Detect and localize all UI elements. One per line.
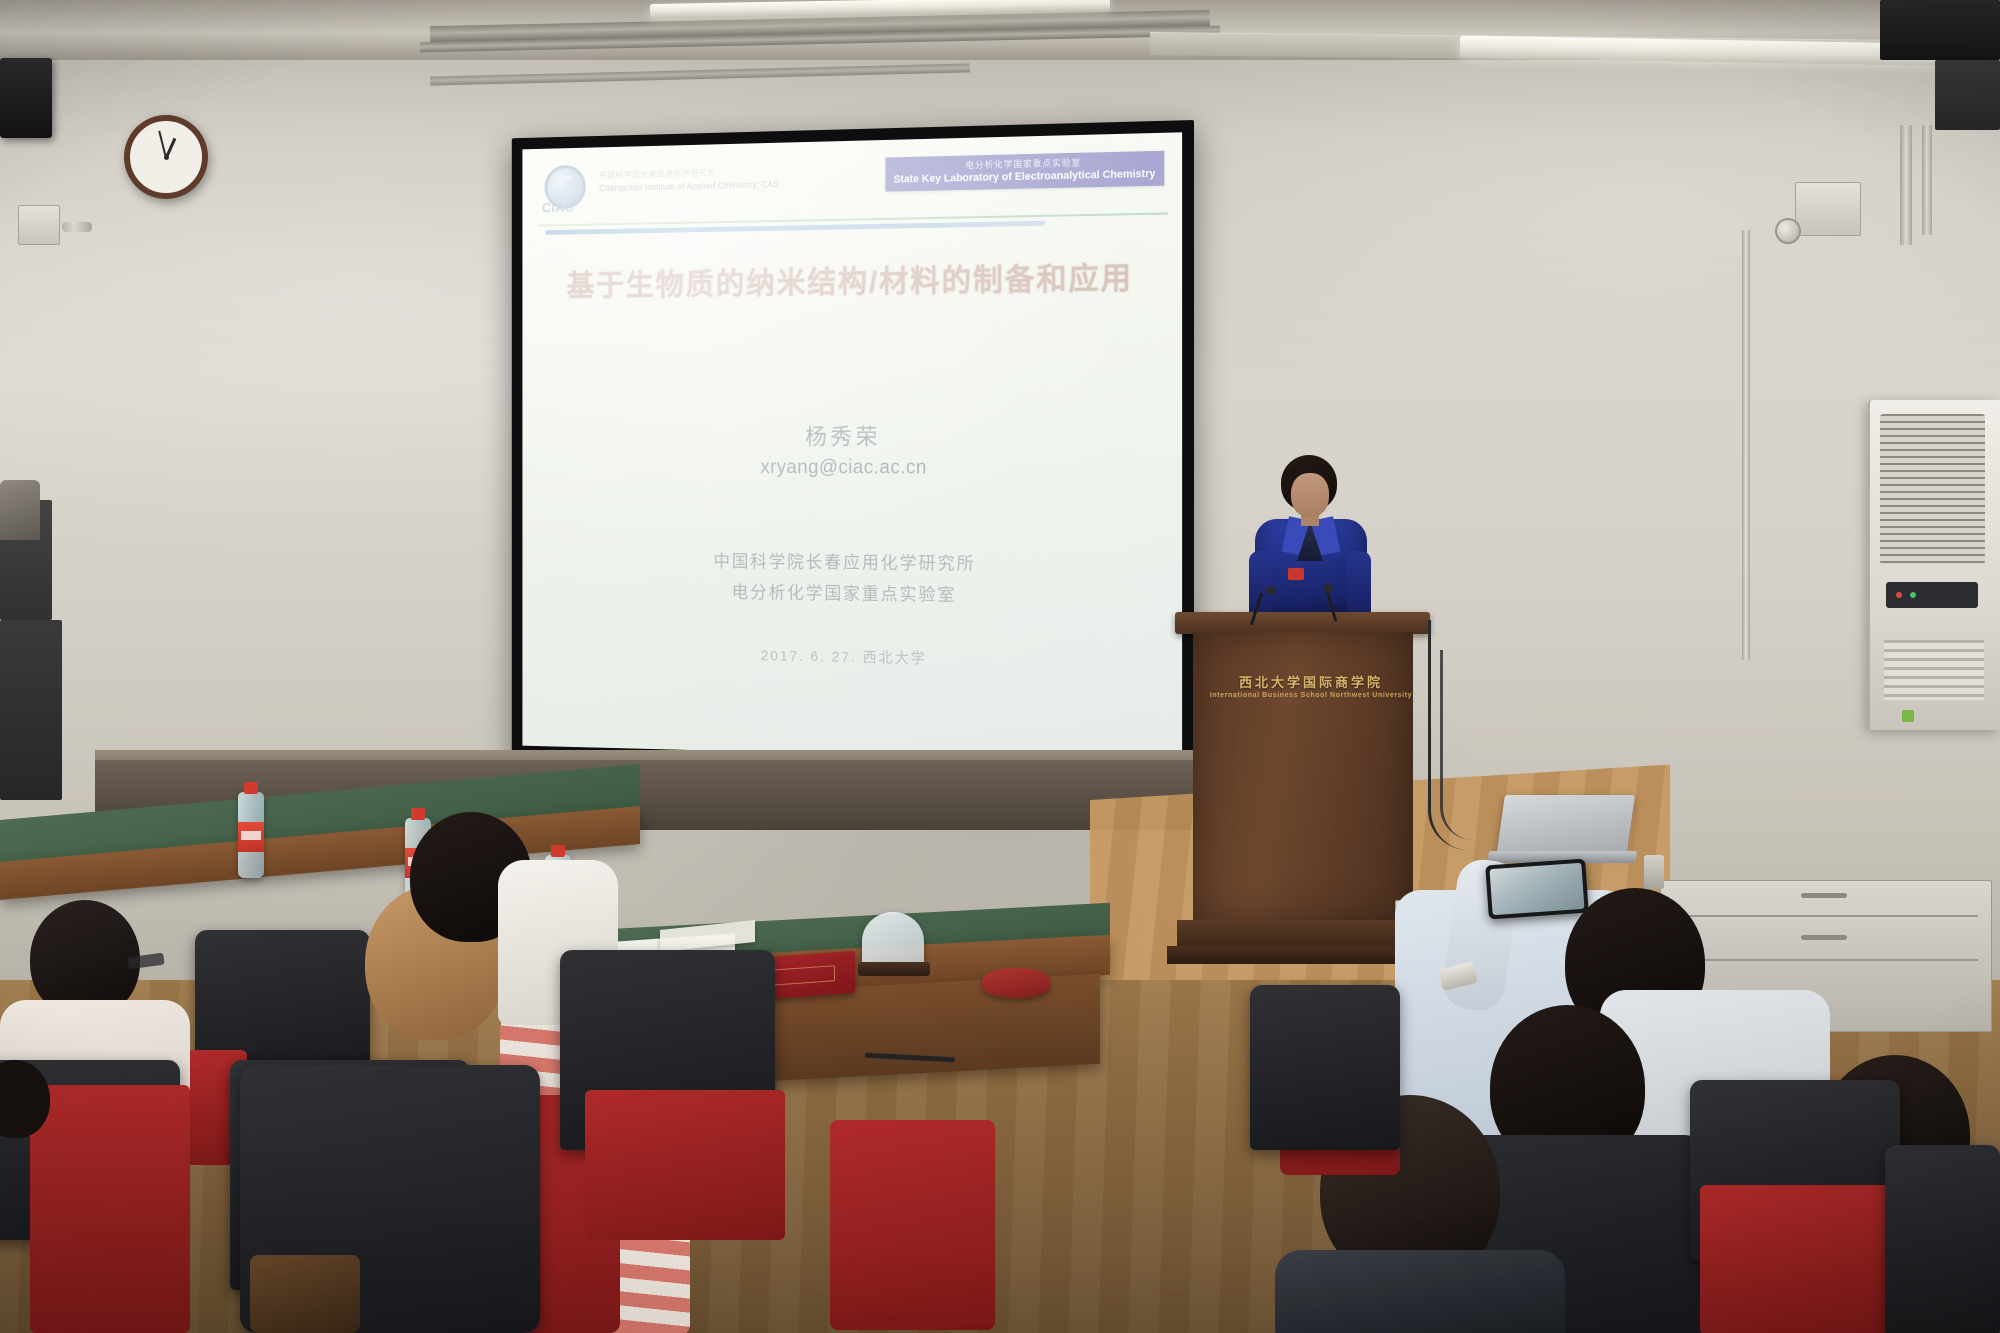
bottle-label xyxy=(238,822,264,852)
chair-red-right-1 xyxy=(1700,1185,1910,1333)
lecture-hall-photo: CIAC 中国科学院长春应用化学研究所 Changchun Institute … xyxy=(0,0,2000,1333)
wall-conduit xyxy=(1900,125,1912,245)
right-wall-device xyxy=(1935,60,2000,130)
cabinet-handle-icon[interactable] xyxy=(1801,893,1847,898)
institute-name-cn: 中国科学院长春应用化学研究所 xyxy=(599,167,716,180)
slide-email: xryang@ciac.ac.cn xyxy=(522,456,1182,479)
laptop[interactable] xyxy=(1495,795,1635,865)
slide-affiliation-2: 电分析化学国家重点实验室 xyxy=(522,576,1182,609)
ciac-logo: CIAC xyxy=(542,165,583,210)
wall-panel-right xyxy=(1795,182,1861,236)
laptop-lid xyxy=(1497,795,1635,853)
speaker-face xyxy=(1291,473,1329,517)
ac-status-led-icon xyxy=(1910,592,1916,598)
desk-accessory xyxy=(1644,855,1664,889)
chair-red-far-left xyxy=(30,1085,190,1333)
cabinet-seam-2 xyxy=(1673,959,1978,961)
right-ceiling-vent xyxy=(1880,0,2000,60)
ac-grill xyxy=(1880,414,1985,564)
left-wall-column xyxy=(0,620,62,800)
microphone-head-left xyxy=(1266,586,1275,595)
wall-conduit-2 xyxy=(1922,125,1932,235)
smartphone-recording[interactable] xyxy=(1485,859,1589,920)
wall-pipe xyxy=(62,222,92,232)
ciac-wordmark: CIAC xyxy=(542,199,574,215)
state-key-lab-banner: 电分析化学国家重点实验室 State Key Laboratory of Ele… xyxy=(885,151,1164,192)
slide-author: 杨秀荣 xyxy=(522,417,1182,451)
chair-right-3[interactable] xyxy=(1250,985,1400,1150)
red-pad[interactable] xyxy=(982,968,1050,998)
air-conditioner xyxy=(1868,400,2000,730)
ac-green-indicator-icon xyxy=(1902,710,1914,722)
podium-cable-2 xyxy=(1440,650,1473,840)
chair-red-center xyxy=(585,1090,785,1240)
bottle-cap-icon xyxy=(411,808,425,820)
trophy-base xyxy=(858,962,930,976)
projection-screen: CIAC 中国科学院长春应用化学研究所 Changchun Institute … xyxy=(512,120,1194,775)
decorative-bust xyxy=(0,480,40,540)
podium-sign-cn: 西北大学国际商学院 xyxy=(1207,672,1415,691)
speaker-person xyxy=(1245,455,1375,630)
wall-switch-box[interactable] xyxy=(18,205,60,245)
chair-red-right-center xyxy=(830,1120,995,1330)
podium: 西北大学国际商学院 International Business School … xyxy=(1185,612,1420,1022)
podium-top-surface xyxy=(1175,612,1430,634)
podium-sign-en: International Business School Northwest … xyxy=(1207,692,1415,699)
slide-content: CIAC 中国科学院长春应用化学研究所 Changchun Institute … xyxy=(522,132,1182,762)
ac-control-panel[interactable] xyxy=(1886,582,1978,608)
bottle-cap-icon xyxy=(244,782,258,794)
podium-body: 西北大学国际商学院 International Business School … xyxy=(1193,632,1413,922)
wall-clock xyxy=(124,115,208,199)
chair-right-2[interactable] xyxy=(1885,1145,2000,1333)
institute-name-en: Changchun Institute of Applied Chemistry… xyxy=(599,179,779,193)
ceiling-loudspeaker xyxy=(0,58,52,138)
microphone-head-right xyxy=(1324,584,1333,593)
wall-sensor-icon xyxy=(1775,218,1801,244)
phone-screen xyxy=(1490,863,1585,915)
slide-title: 基于生物质的纳米结构/材料的制备和应用 xyxy=(522,252,1182,305)
slide-date-venue: 2017. 6. 27. 西北大学 xyxy=(522,641,1182,673)
cabinet-handle-icon-2[interactable] xyxy=(1801,935,1847,940)
handbag[interactable] xyxy=(250,1255,360,1333)
slide-affiliation-1: 中国科学院长春应用化学研究所 xyxy=(522,546,1182,578)
microphone-flag-icon xyxy=(1288,568,1304,580)
wall-downpipe xyxy=(1742,230,1750,660)
cabinet-seam-1 xyxy=(1673,915,1978,917)
audience-torso-8 xyxy=(1275,1250,1565,1333)
ac-lower-vent xyxy=(1884,640,1984,700)
water-bottle-1[interactable] xyxy=(238,792,264,878)
slide-header: CIAC 中国科学院长春应用化学研究所 Changchun Institute … xyxy=(542,151,1168,217)
screen-surface: CIAC 中国科学院长春应用化学研究所 Changchun Institute … xyxy=(522,132,1182,762)
clock-center xyxy=(164,155,169,160)
bottle-cap-icon xyxy=(551,845,565,857)
ac-power-led-icon xyxy=(1896,592,1902,598)
